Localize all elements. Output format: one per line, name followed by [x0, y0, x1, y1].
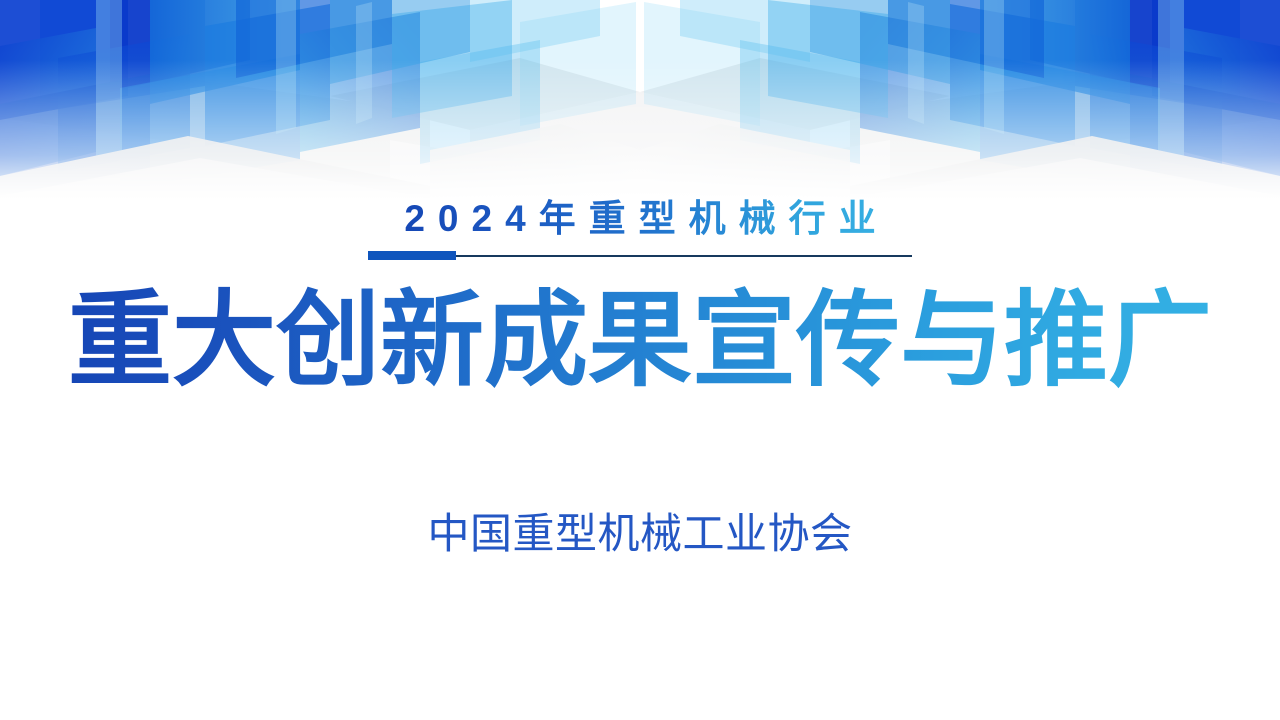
- geometric-decoration-band: [0, 0, 1280, 200]
- title-block: 2024年重型机械行业 重大创新成果宣传与推广: [0, 196, 1280, 400]
- title-divider: [368, 250, 912, 261]
- slide-main-title: 重大创新成果宣传与推广: [68, 283, 1212, 399]
- title-slide: 2024年重型机械行业 重大创新成果宣传与推广 中国重型机械工业协会: [0, 0, 1280, 720]
- divider-accent-block: [368, 251, 456, 260]
- slide-subtitle: 2024年重型机械行业: [391, 196, 888, 241]
- organization-name: 中国重型机械工业协会: [0, 508, 1280, 561]
